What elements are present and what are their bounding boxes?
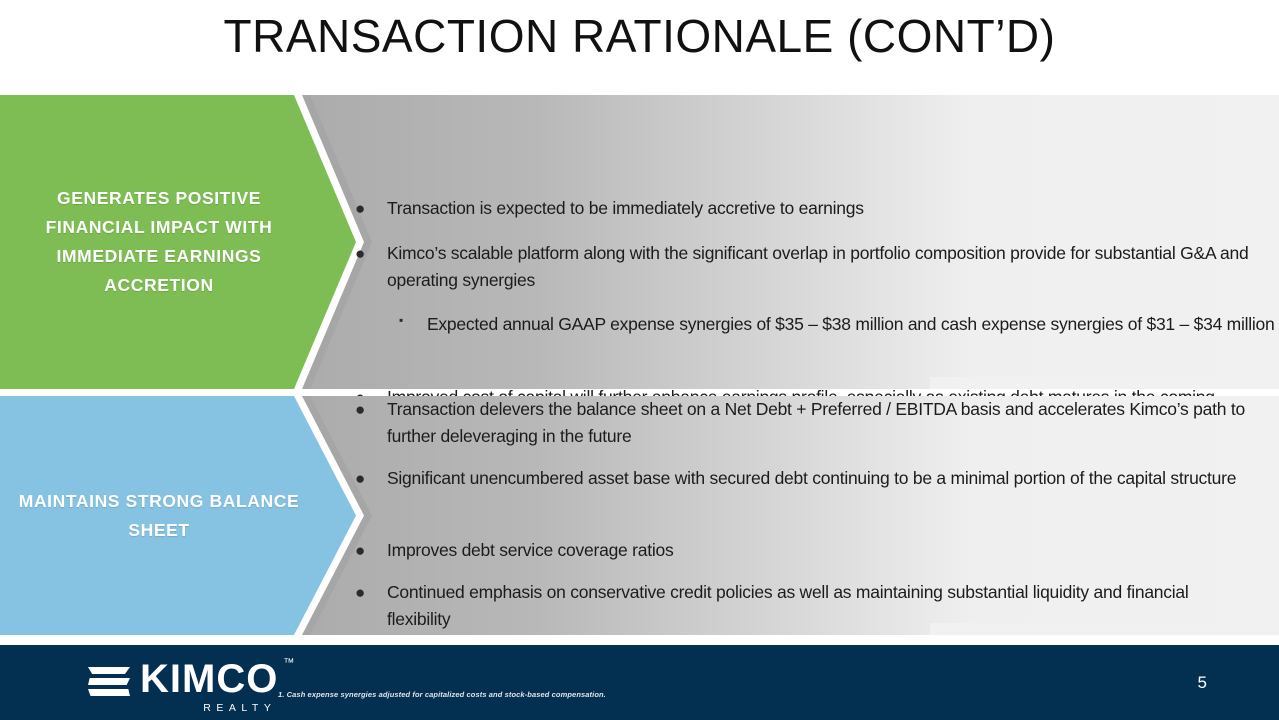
bullet-dot-icon: ● bbox=[355, 579, 387, 606]
list-item-sub-text: Expected annual GAAP expense synergies o… bbox=[427, 307, 1279, 338]
list-item-sub-body: Expected annual GAAP expense synergies o… bbox=[427, 314, 1275, 334]
footer-bar: KIMCO ™ REALTY bbox=[0, 645, 1279, 720]
chevron-label-green-text: GENERATES POSITIVE FINANCIAL IMPACT WITH… bbox=[14, 184, 304, 300]
chevron-label-green[interactable]: GENERATES POSITIVE FINANCIAL IMPACT WITH… bbox=[0, 95, 356, 389]
list-item-sub: ▪ Expected annual GAAP expense synergies… bbox=[355, 307, 1279, 338]
list-item-text: Transaction is expected to be immediatel… bbox=[387, 195, 864, 222]
bullet-list-green: ● Transaction is expected to be immediat… bbox=[355, 95, 1249, 389]
bullet-dot-icon: ● bbox=[355, 240, 387, 267]
chevron-label-blue-text: MAINTAINS STRONG BALANCE SHEET bbox=[14, 487, 304, 545]
list-item-text: Significant unencumbered asset base with… bbox=[387, 465, 1236, 492]
list-item: ● Transaction delevers the balance sheet… bbox=[355, 396, 1275, 450]
list-item: ● Continued emphasis on conservative cre… bbox=[355, 579, 1195, 633]
bullet-dot-icon: ● bbox=[355, 465, 387, 492]
list-item: ● Kimco’s scalable platform along with t… bbox=[355, 240, 1267, 294]
kimco-logo[interactable]: KIMCO ™ REALTY bbox=[88, 659, 278, 714]
list-item: ● Improves debt service coverage ratios bbox=[355, 537, 1055, 564]
logo-name: KIMCO bbox=[140, 659, 278, 699]
section-generates-positive-financial-impact: GENERATES POSITIVE FINANCIAL IMPACT WITH… bbox=[0, 95, 1279, 389]
logo-subtitle: REALTY bbox=[140, 702, 278, 714]
list-item: ● Transaction is expected to be immediat… bbox=[355, 195, 1235, 222]
list-item-text: Kimco’s scalable platform along with the… bbox=[387, 240, 1267, 294]
trademark-icon: ™ bbox=[283, 658, 294, 669]
kimco-bars-icon bbox=[88, 663, 130, 701]
bullet-square-icon: ▪ bbox=[399, 307, 427, 334]
kimco-logo-text: KIMCO ™ REALTY bbox=[140, 659, 278, 714]
page-number: 5 bbox=[1198, 673, 1207, 693]
bullet-dot-icon: ● bbox=[355, 396, 387, 423]
list-item-text: Improves debt service coverage ratios bbox=[387, 537, 673, 564]
bullet-list-blue: ● Transaction delevers the balance sheet… bbox=[355, 396, 1249, 635]
bullet-dot-icon: ● bbox=[355, 195, 387, 222]
list-item-text: Transaction delevers the balance sheet o… bbox=[387, 396, 1275, 450]
list-item-text: Continued emphasis on conservative credi… bbox=[387, 579, 1195, 633]
section-maintains-strong-balance-sheet: MAINTAINS STRONG BALANCE SHEET ● Transac… bbox=[0, 396, 1279, 635]
footnote-text: 1. Cash expense synergies adjusted for c… bbox=[278, 690, 606, 699]
page-title: TRANSACTION RATIONALE (CONT’D) bbox=[0, 4, 1279, 68]
chevron-label-blue[interactable]: MAINTAINS STRONG BALANCE SHEET bbox=[0, 396, 356, 635]
bullet-dot-icon: ● bbox=[355, 537, 387, 564]
list-item: ● Significant unencumbered asset base wi… bbox=[355, 465, 1240, 492]
